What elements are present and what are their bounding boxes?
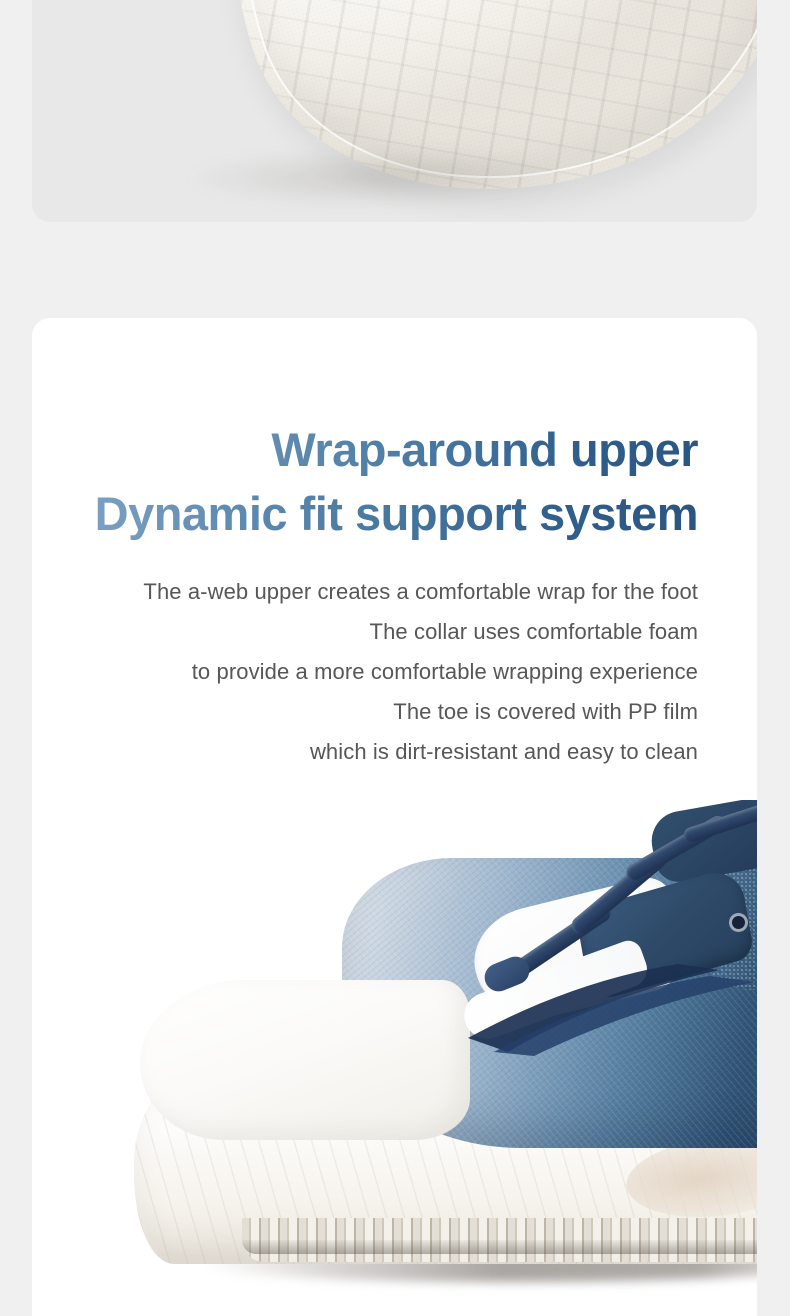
shoe-toe-cap [140,980,470,1140]
feature-body-line: The toe is covered with PP film [72,692,698,732]
feature-copy-block: Wrap-around upper Dynamic fit support sy… [32,318,757,772]
running-shoe-illustration [92,810,757,1316]
feature-body-line: The collar uses comfortable foam [72,612,698,652]
feature-body-line: to provide a more comfortable wrapping e… [72,652,698,692]
running-shoe-photo [32,800,757,1316]
feature-headline-line-2: Dynamic fit support system [72,482,698,546]
shoe-outsole-photo-card [32,0,757,222]
feature-body-line: which is dirt-resistant and easy to clea… [72,732,698,772]
brand-chevron-logo [464,960,757,1056]
feature-headline-line-1: Wrap-around upper [72,418,698,482]
product-detail-page: Wrap-around upper Dynamic fit support sy… [0,0,790,1316]
upper-feature-card: Wrap-around upper Dynamic fit support sy… [32,318,757,1316]
feature-body-line: The a-web upper creates a comfortable wr… [72,572,698,612]
feature-body-copy: The a-web upper creates a comfortable wr… [72,572,698,772]
shoe-outsole-shadow [242,1240,757,1254]
outsole-drop-shadow [182,148,582,208]
shoe-eyelet [732,916,745,929]
